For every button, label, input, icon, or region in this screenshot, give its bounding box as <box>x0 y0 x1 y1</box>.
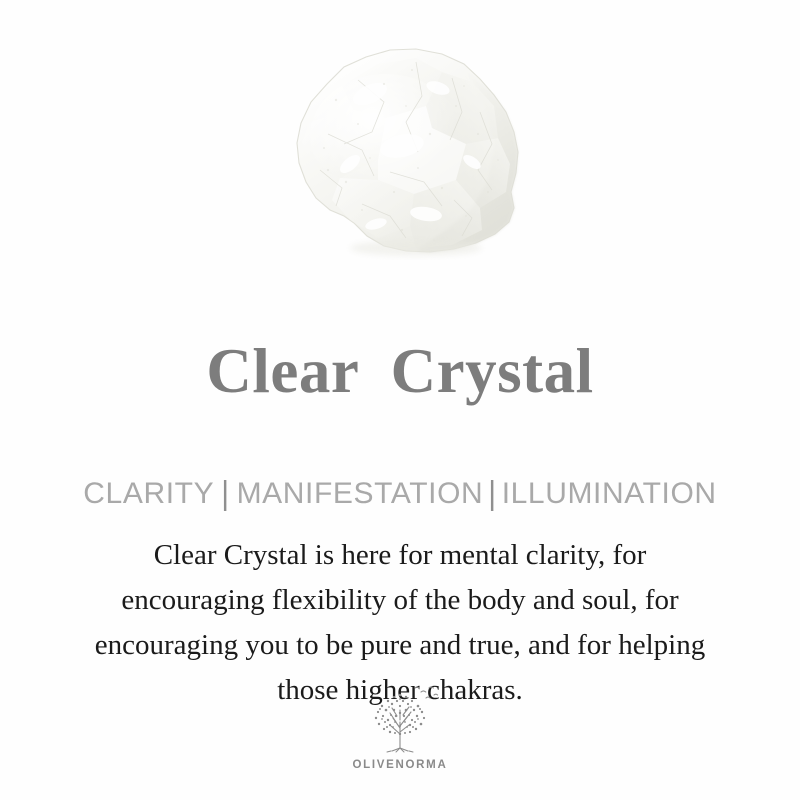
olive-tree-with-birds-icon <box>358 682 442 756</box>
description-line: encouraging you to be pure and true, and… <box>30 623 770 668</box>
crystal-image-wrapper <box>266 40 534 282</box>
keyword-manifestation: MANIFESTATION <box>237 479 484 509</box>
keyword-separator-2: | <box>483 477 501 511</box>
product-image-stage <box>0 0 800 318</box>
description-line: Clear Crystal is here for mental clarity… <box>30 533 770 578</box>
description-line: encouraging flexibility of the body and … <box>30 578 770 623</box>
keyword-clarity: CLARITY <box>83 479 214 509</box>
brand-name: OLIVENORMA <box>353 759 448 771</box>
keyword-list: CLARITY | MANIFESTATION | ILLUMINATION <box>83 479 716 509</box>
raw-clear-quartz-crystal-icon <box>266 40 534 282</box>
page-title: Clear Crystal <box>206 340 593 403</box>
keyword-separator-1: | <box>214 477 236 511</box>
product-info-card: Clear Crystal CLARITY | MANIFESTATION | … <box>0 0 800 800</box>
tree-roots <box>387 748 413 752</box>
birds <box>415 687 438 698</box>
brand-logo: OLIVENORMA <box>0 682 800 771</box>
crystal-contact-shadow <box>350 240 482 256</box>
keyword-illumination: ILLUMINATION <box>502 479 717 509</box>
